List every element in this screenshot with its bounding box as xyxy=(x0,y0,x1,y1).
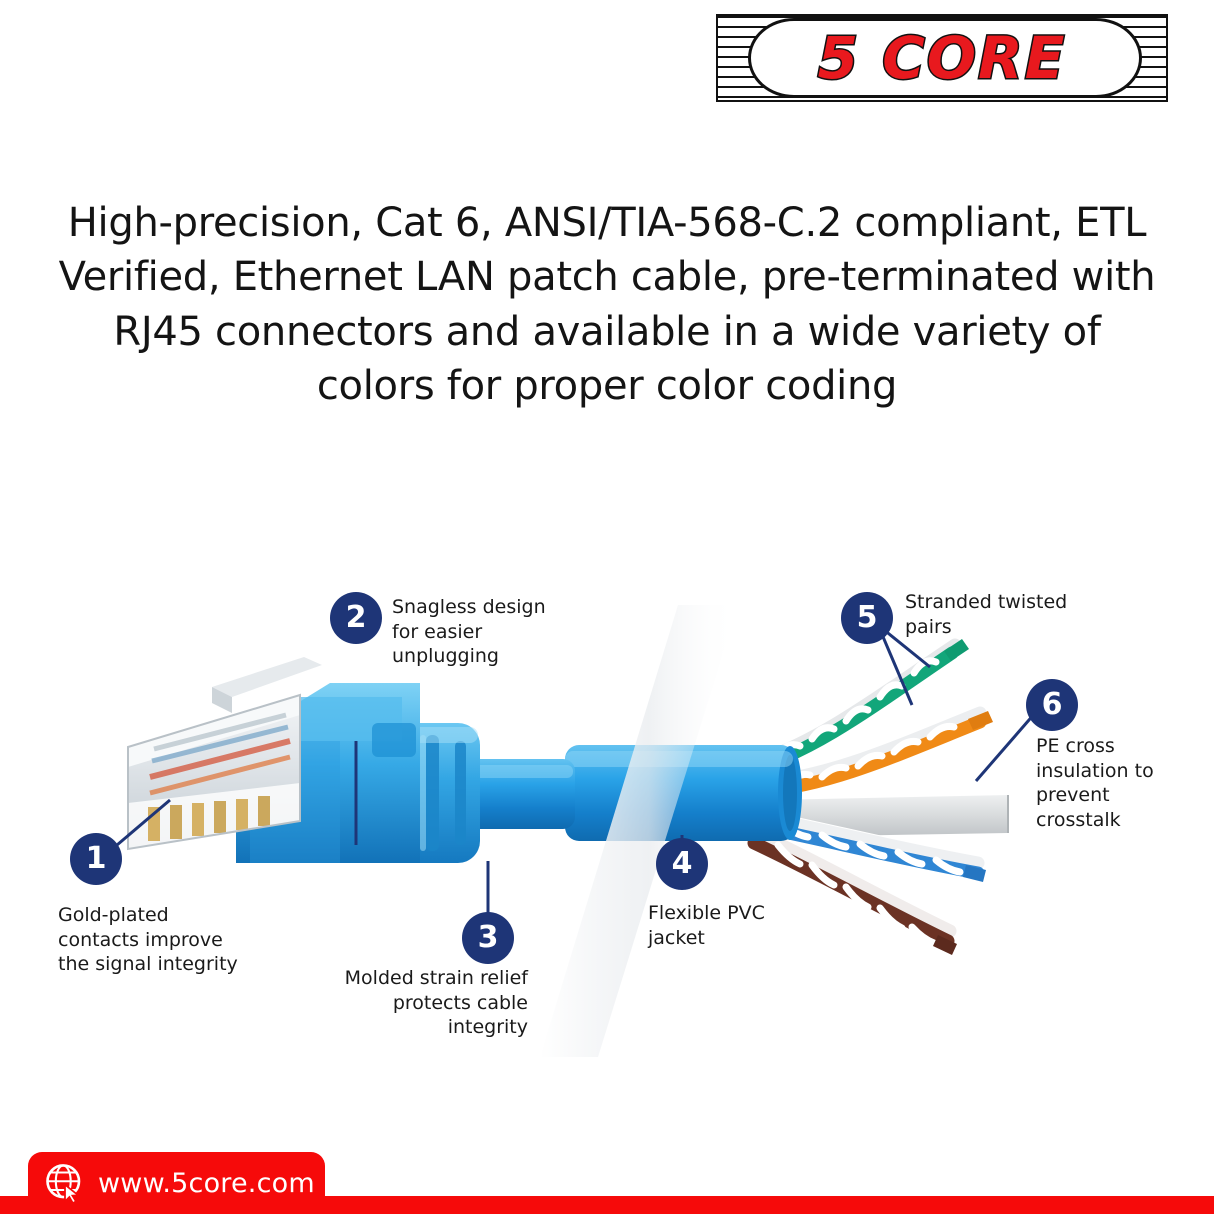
callout-badge-3[interactable]: 3 xyxy=(462,912,514,964)
logo-text: 5 CORE xyxy=(716,14,1168,102)
callout-badge-5[interactable]: 5 xyxy=(841,592,893,644)
callout-label-2: Snagless design for easier unplugging xyxy=(392,595,622,669)
infographic-page: 5 CORE High-precision, Cat 6, ANSI/TIA-5… xyxy=(0,0,1214,1214)
callout-badge-6[interactable]: 6 xyxy=(1026,679,1078,731)
globe-cursor-icon xyxy=(44,1162,86,1204)
rj45-connector xyxy=(128,657,322,849)
footer-website-banner[interactable]: www.5core.com xyxy=(28,1152,325,1214)
footer-url-text: www.5core.com xyxy=(98,1170,315,1197)
callout-badge-1[interactable]: 1 xyxy=(70,833,122,885)
callout-badge-2[interactable]: 2 xyxy=(330,592,382,644)
callout-badge-4[interactable]: 4 xyxy=(656,838,708,890)
brand-logo: 5 CORE xyxy=(716,14,1168,102)
page-title: High-precision, Cat 6, ANSI/TIA-568-C.2 … xyxy=(52,196,1162,414)
callout-label-1: Gold-plated contacts improve the signal … xyxy=(58,903,278,977)
callout-label-6: PE cross insulation to prevent crosstalk xyxy=(1036,734,1206,833)
callout-label-5: Stranded twisted pairs xyxy=(905,590,1105,639)
callout-label-4: Flexible PVC jacket xyxy=(648,901,848,950)
callout-label-3: Molded strain relief protects cable inte… xyxy=(300,966,528,1040)
